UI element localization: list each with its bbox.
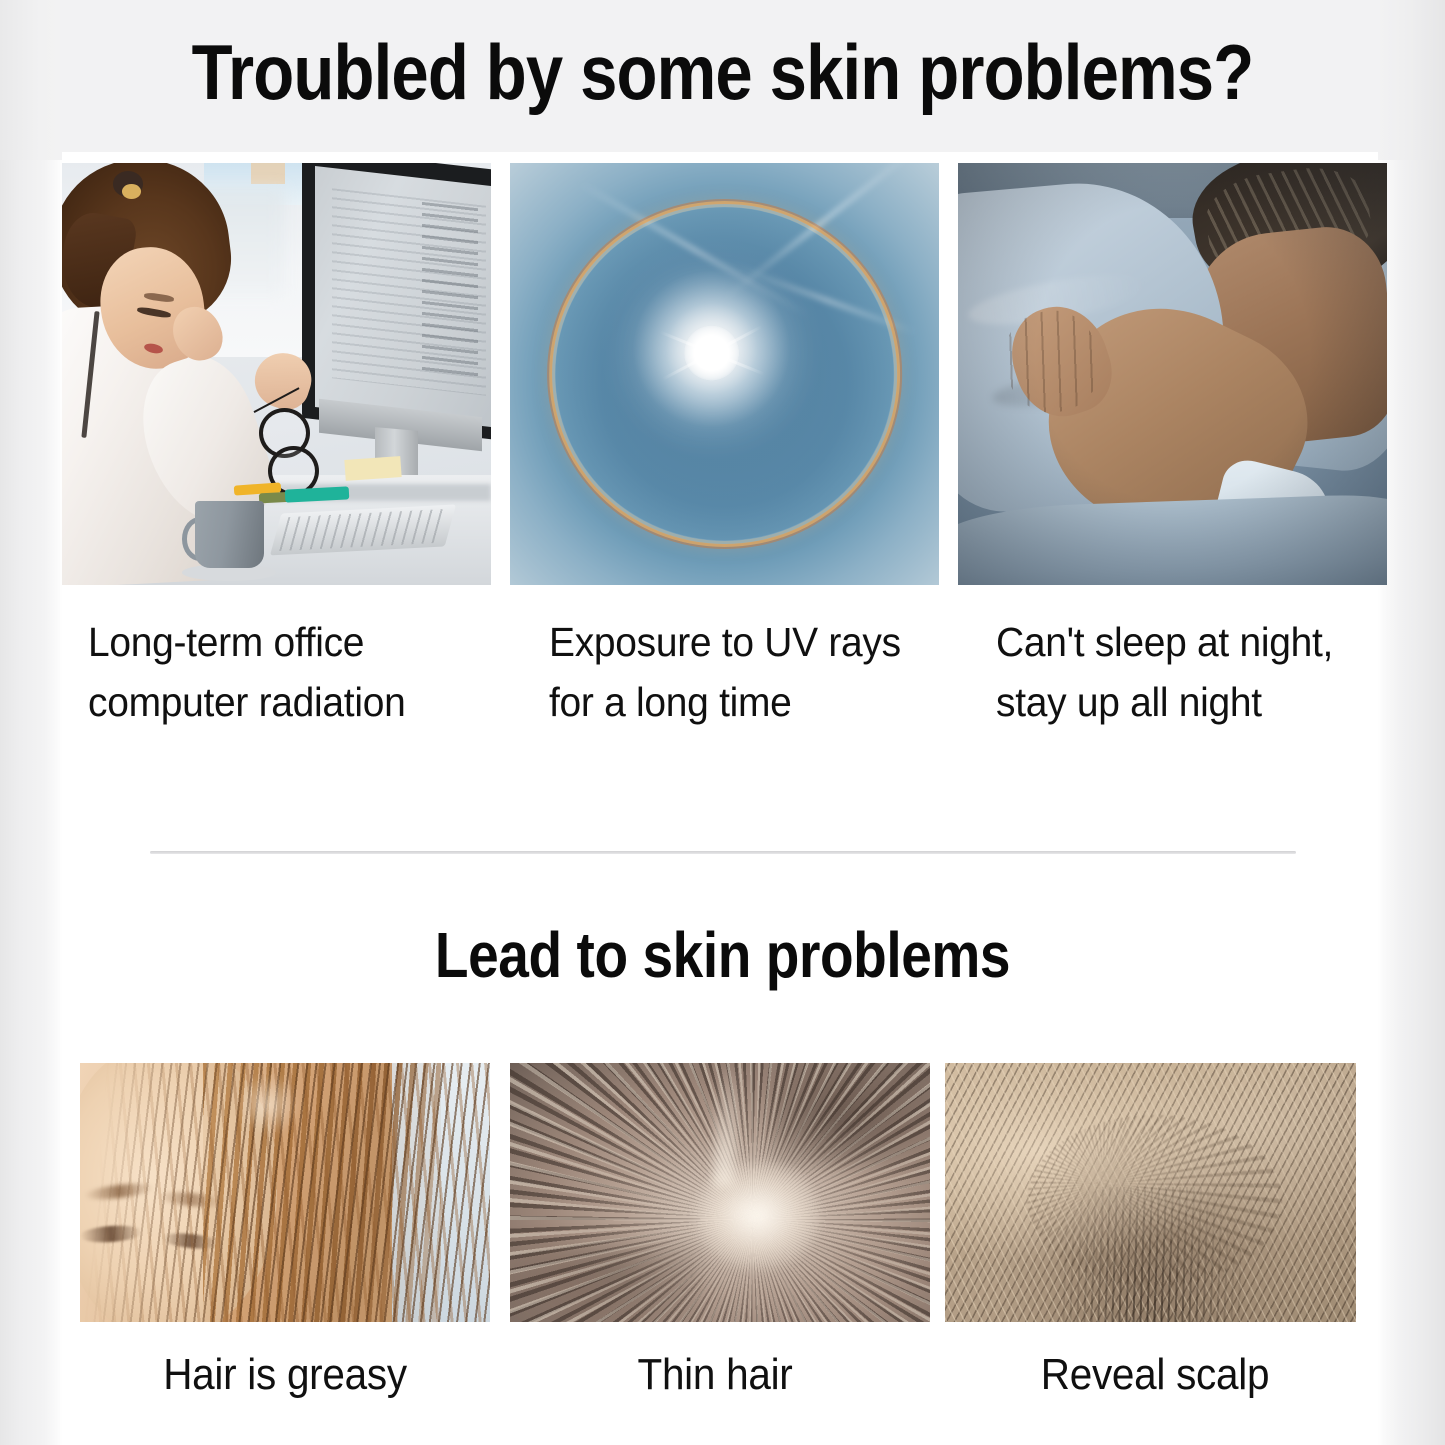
image-greasy-stringy-hair-over-face — [80, 1063, 490, 1322]
image-tired-office-worker-at-computer — [62, 163, 491, 585]
section-divider — [150, 851, 1296, 854]
image-sun-halo-uv-rays — [510, 163, 939, 585]
cause-caption-2: Exposure to UV rays for a long time — [549, 612, 948, 732]
page-title: Troubled by some skin problems? — [101, 24, 1344, 120]
cause-caption-3: Can't sleep at night, stay up all night — [996, 612, 1376, 732]
page-background: Troubled by some skin problems? — [0, 0, 1445, 1445]
causes-image-row — [62, 163, 1359, 585]
effect-caption-2: Thin hair — [517, 1345, 913, 1405]
effect-caption-1: Hair is greasy — [78, 1345, 492, 1405]
effects-image-row — [80, 1063, 1356, 1322]
image-woman-awake-in-bed-at-night — [958, 163, 1387, 585]
image-sparse-hair-revealing-scalp — [945, 1063, 1356, 1322]
effect-caption-3: Reveal scalp — [948, 1345, 1362, 1405]
section-subheading: Lead to skin problems — [101, 916, 1344, 994]
image-thinning-hair-crown-scalp — [510, 1063, 930, 1322]
cause-caption-1: Long-term office computer radiation — [88, 612, 487, 732]
